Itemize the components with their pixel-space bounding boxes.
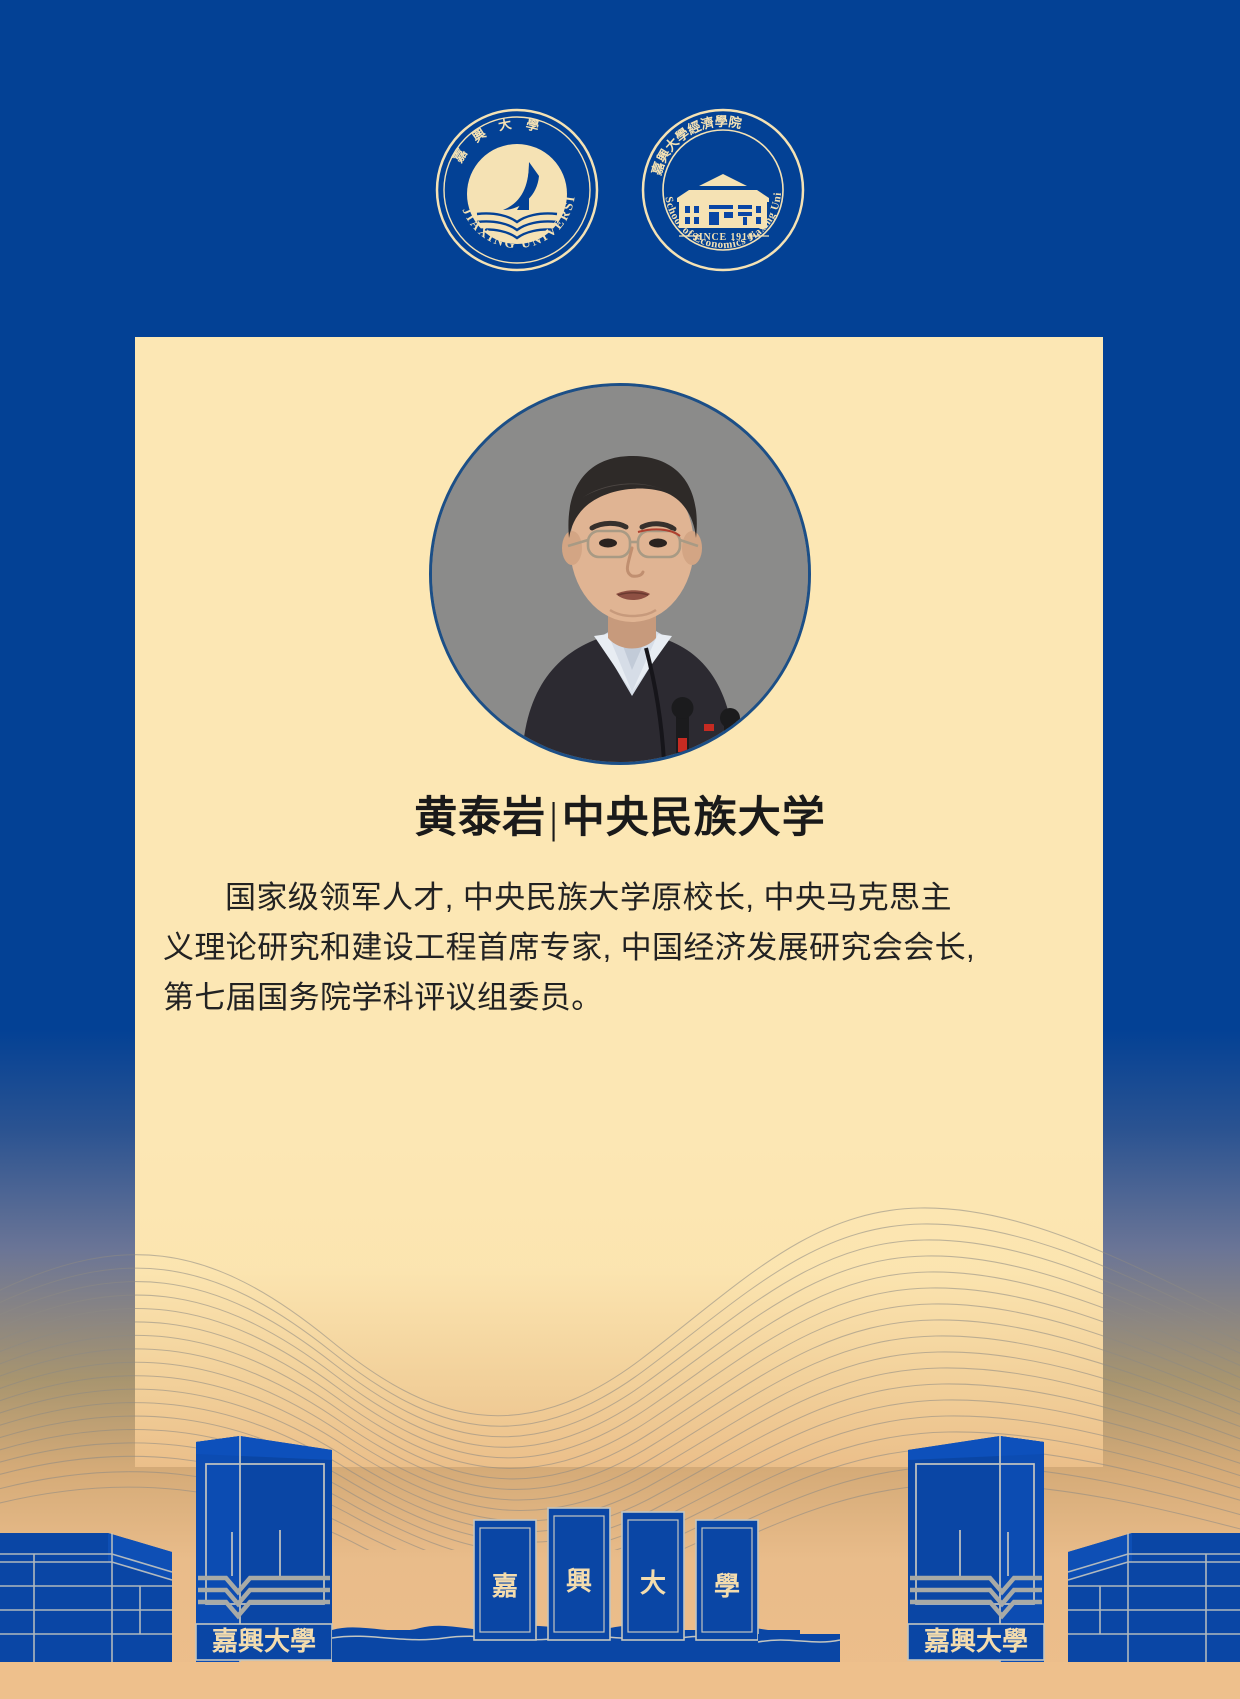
speaker-bio: 国家级领军人才, 中央民族大学原校长, 中央马克思主义理论研究和建设工程首席专家… xyxy=(163,873,983,1024)
title-separator: | xyxy=(546,795,562,842)
campus-gate-illustration: 嘉興大學 嘉 興 xyxy=(0,1290,1240,1699)
gate-left-building xyxy=(0,1533,172,1662)
page-title: 黄泰岩|中央民族大学 xyxy=(0,783,1240,845)
gate-left-plaque-text: 嘉興大學 xyxy=(212,1627,316,1656)
gate-center-plaques: 嘉 興 大 學 xyxy=(474,1508,758,1640)
speaker-name: 黄泰岩 xyxy=(414,795,546,842)
speaker-affiliation: 中央民族大学 xyxy=(562,795,826,842)
school-of-economics-seal-icon: SINCE 1914 嘉興大學經濟學院 School of Economics … xyxy=(639,106,807,274)
gate-right-plaque-text: 嘉興大學 xyxy=(924,1627,1028,1656)
speaker-portrait xyxy=(429,383,811,765)
header-logos: 嘉 興 大 學 1914 JIAXING UNIVERSITY xyxy=(0,104,1240,276)
gate-plaque-char-1: 嘉 xyxy=(492,1572,518,1601)
gate-plaque-char-2: 興 xyxy=(566,1567,592,1596)
portrait-illustration xyxy=(432,386,808,762)
gate-right-building xyxy=(1068,1533,1240,1662)
jiaxing-university-seal-icon: 嘉 興 大 學 1914 JIAXING UNIVERSITY xyxy=(433,106,601,274)
gate-plaque-char-3: 大 xyxy=(640,1569,666,1598)
poster-root: 嘉 興 大 學 1914 JIAXING UNIVERSITY xyxy=(0,0,1240,1699)
gate-left-pillar: 嘉興大學 xyxy=(196,1436,332,1662)
gate-right-pillar: 嘉興大學 xyxy=(908,1436,1044,1662)
svg-text:嘉興大學經濟學院: 嘉興大學經濟學院 xyxy=(649,114,743,178)
gate-plaque-char-4: 學 xyxy=(714,1572,740,1601)
